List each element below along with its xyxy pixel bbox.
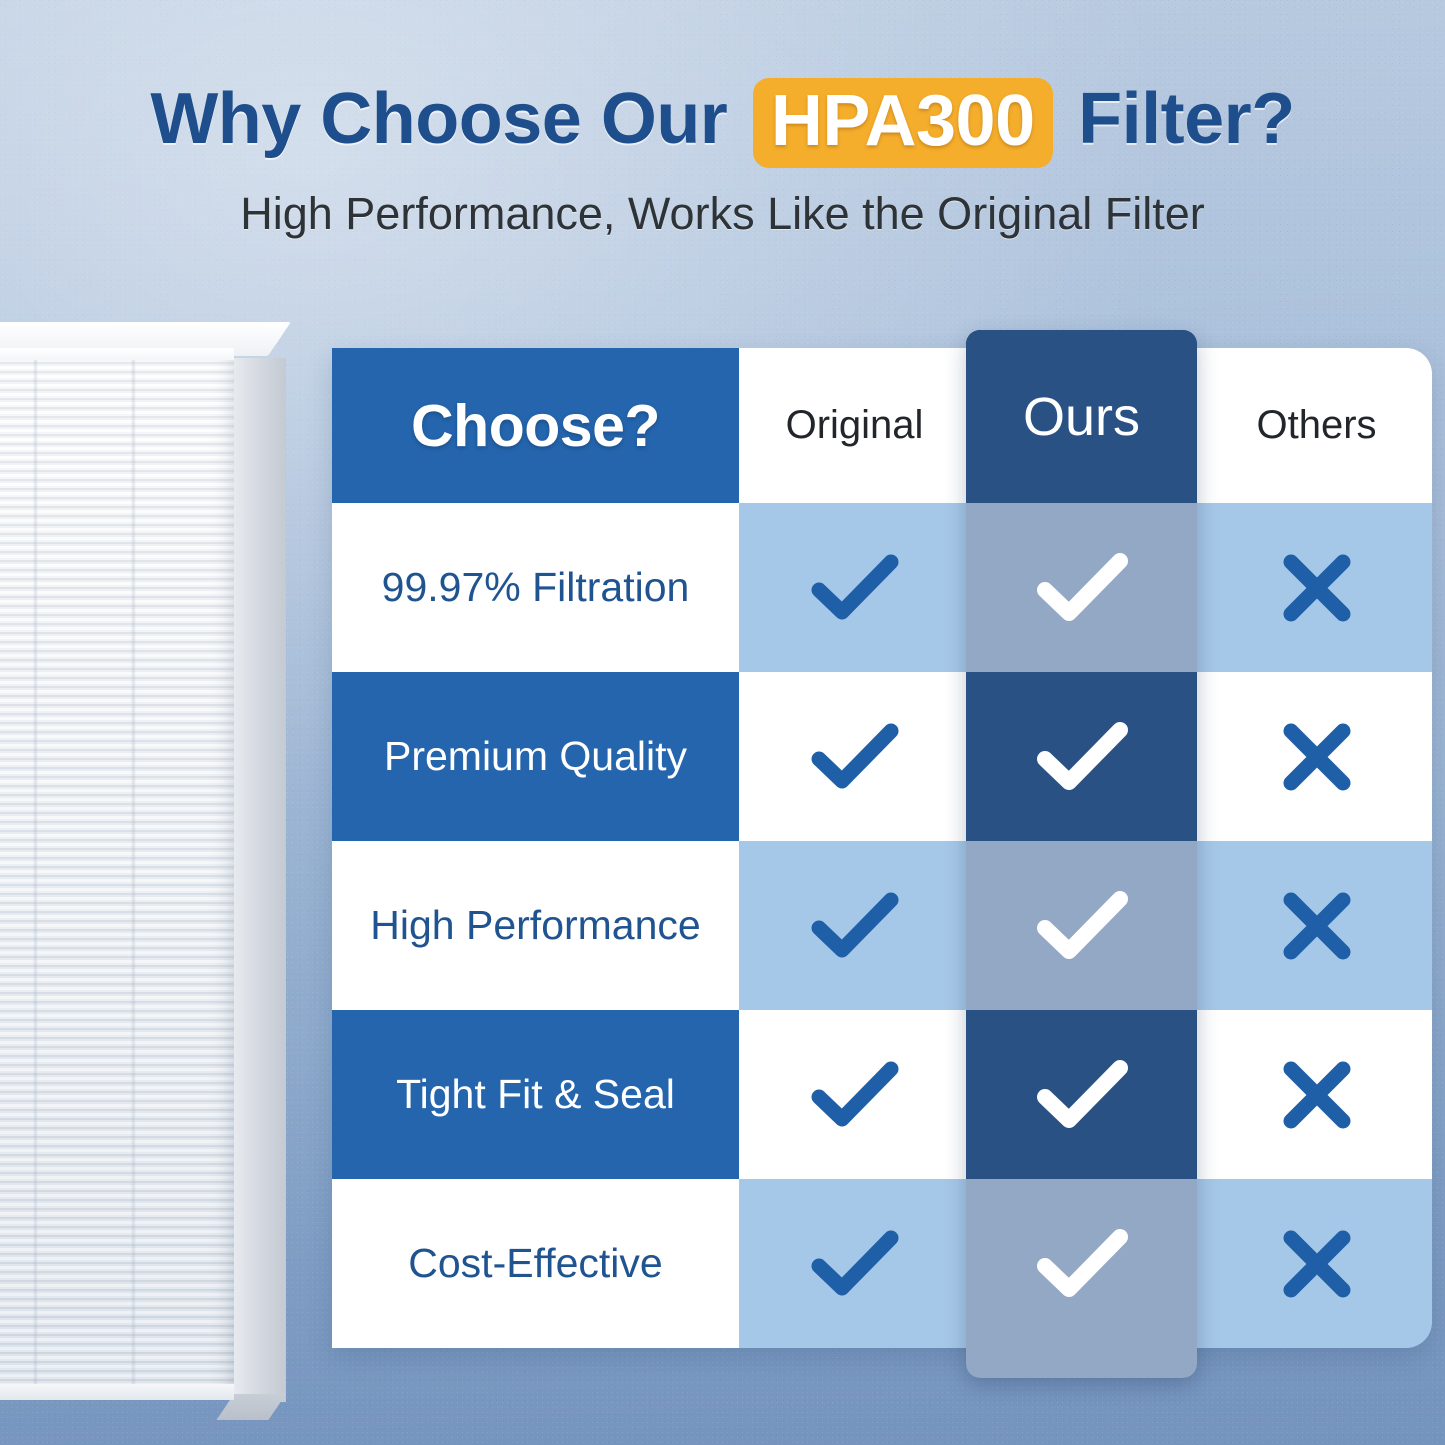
cell-others-cost-effective — [1201, 1179, 1432, 1348]
cell-ours-high-performance — [966, 841, 1197, 1010]
page-title: Why Choose Our HPA300 Filter? — [0, 76, 1445, 166]
row-label-text: 99.97% Filtration — [382, 564, 690, 611]
table-row: 99.97% Filtration — [332, 503, 1432, 672]
cross-icon — [1277, 548, 1357, 628]
title-prefix: Why Choose Our — [150, 79, 727, 159]
cell-original-premium-quality — [739, 672, 970, 841]
check-icon — [1034, 1226, 1130, 1302]
table-row: Premium Quality — [332, 672, 1432, 841]
row-label-premium-quality: Premium Quality — [332, 672, 739, 841]
header-cell-feature: Choose? — [332, 348, 739, 503]
filter-pleated-face — [0, 348, 234, 1400]
ours-column-header: Ours — [966, 330, 1197, 503]
cell-ours-filtration — [966, 503, 1197, 672]
check-icon — [1034, 888, 1130, 964]
title-highlight-badge: HPA300 — [753, 78, 1053, 168]
row-label-text: Tight Fit & Seal — [396, 1071, 675, 1118]
hepa-filter-image — [0, 322, 314, 1400]
page-subtitle: High Performance, Works Like the Origina… — [0, 188, 1445, 240]
filter-frame-top — [0, 348, 234, 360]
row-label-cost-effective: Cost-Effective — [332, 1179, 739, 1348]
row-label-filtration: 99.97% Filtration — [332, 503, 739, 672]
filter-side-edge — [234, 358, 286, 1402]
cross-icon — [1277, 1055, 1357, 1135]
header-label-original: Original — [786, 403, 924, 448]
cell-others-premium-quality — [1201, 672, 1432, 841]
cell-original-high-performance — [739, 841, 970, 1010]
cell-original-filtration — [739, 503, 970, 672]
check-icon — [1034, 1057, 1130, 1133]
check-icon — [1034, 550, 1130, 626]
row-label-tight-fit-seal: Tight Fit & Seal — [332, 1010, 739, 1179]
check-icon — [809, 552, 901, 624]
cell-others-tight-fit-seal — [1201, 1010, 1432, 1179]
title-suffix: Filter? — [1078, 79, 1295, 159]
row-label-text: Premium Quality — [384, 733, 687, 780]
header-label-others: Others — [1256, 403, 1376, 448]
row-label-high-performance: High Performance — [332, 841, 739, 1010]
row-label-text: Cost-Effective — [408, 1240, 662, 1287]
header-label-feature: Choose? — [411, 392, 660, 460]
table-row: High Performance — [332, 841, 1432, 1010]
comparison-table: Choose? Original Others 99.97% Filtratio… — [332, 348, 1432, 1348]
cell-ours-tight-fit-seal — [966, 1010, 1197, 1179]
cross-icon — [1277, 1224, 1357, 1304]
check-icon — [1034, 719, 1130, 795]
header-label-ours: Ours — [1023, 386, 1140, 448]
header-cell-original: Original — [739, 348, 970, 503]
filter-frame-bottom — [0, 1384, 234, 1400]
cross-icon — [1277, 717, 1357, 797]
cell-others-high-performance — [1201, 841, 1432, 1010]
table-header-row: Choose? Original Others — [332, 348, 1432, 503]
cell-ours-premium-quality — [966, 672, 1197, 841]
cell-original-cost-effective — [739, 1179, 970, 1348]
ours-highlight-column[interactable]: Ours — [966, 330, 1197, 1378]
cross-icon — [1277, 886, 1357, 966]
check-icon — [809, 721, 901, 793]
cell-others-filtration — [1201, 503, 1432, 672]
cell-ours-cost-effective — [966, 1179, 1197, 1348]
table-row: Tight Fit & Seal — [332, 1010, 1432, 1179]
header-cell-others: Others — [1201, 348, 1432, 503]
table-row: Cost-Effective — [332, 1179, 1432, 1348]
check-icon — [809, 890, 901, 962]
check-icon — [809, 1059, 901, 1131]
row-label-text: High Performance — [370, 902, 700, 949]
check-icon — [809, 1228, 901, 1300]
ours-column-footer — [966, 1348, 1197, 1378]
cell-original-tight-fit-seal — [739, 1010, 970, 1179]
